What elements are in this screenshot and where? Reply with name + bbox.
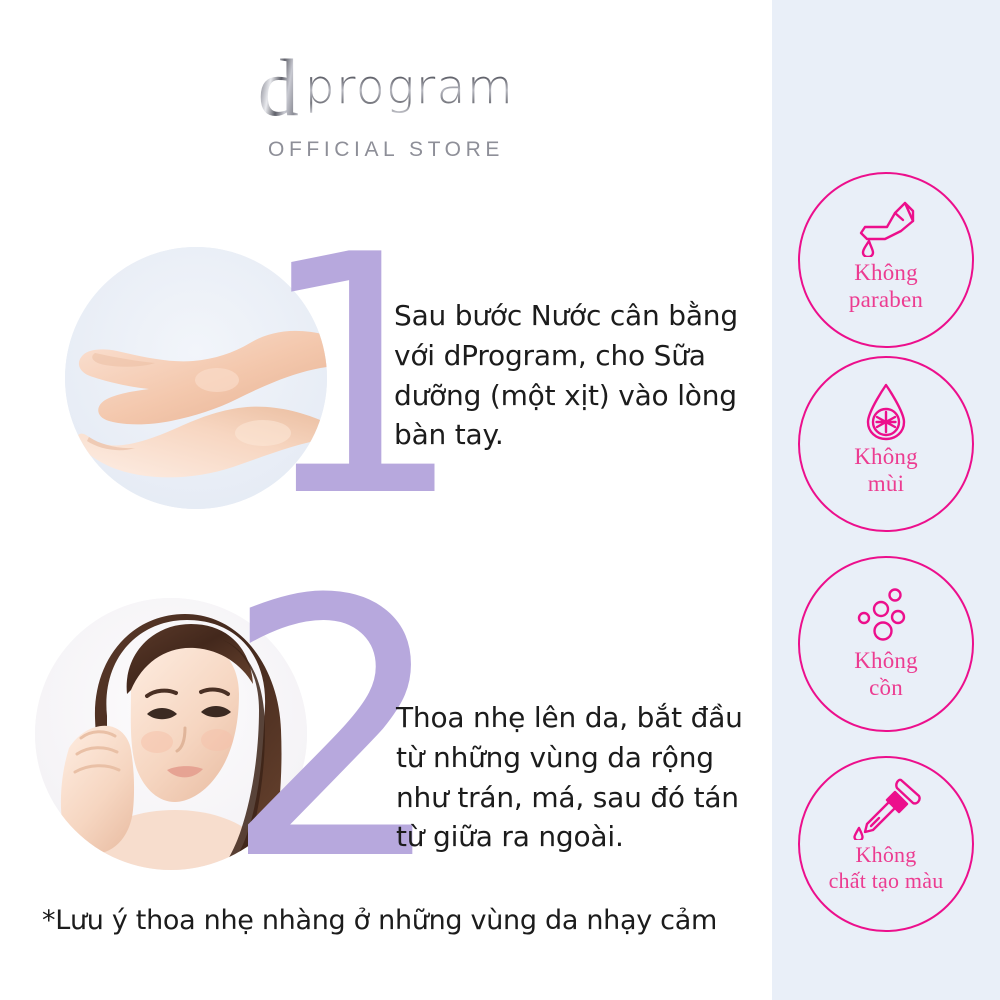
badge-khong-con[interactable]: Không cồn [798, 556, 974, 732]
badge-khong-chat-tao-mau[interactable]: Không chất tạo màu [798, 756, 974, 932]
badge-label-line1: Không [829, 842, 944, 868]
badge-label-line1: Không [854, 648, 918, 675]
dropper-pipette-icon [851, 778, 921, 840]
badge-label-line2: paraben [849, 287, 923, 314]
logo-wordmark: dprogram [258, 48, 515, 128]
badge-label: Không paraben [849, 260, 923, 313]
logo-word-program: program [305, 60, 515, 115]
step-2: 2 Thoa nhẹ lên da, bắt đầu từ những vùng… [0, 580, 772, 890]
badge-label-line1: Không [854, 444, 918, 471]
step-1-text: Sau bước Nước cân bằng với dProgram, cho… [394, 296, 754, 455]
badge-label-line2: mùi [854, 471, 918, 498]
badge-label-line2: cồn [854, 675, 918, 702]
badge-khong-paraben[interactable]: Không paraben [798, 172, 974, 348]
logo-letter-d: d [258, 42, 299, 133]
badge-label: Không chất tạo màu [829, 842, 944, 893]
claims-sidebar: Không paraben Không mùi [772, 0, 1000, 1000]
footnote-note: *Lưu ý thoa nhẹ nhàng ở những vùng da nh… [42, 905, 717, 936]
badge-label: Không mùi [854, 444, 918, 497]
badge-khong-mui[interactable]: Không mùi [798, 356, 974, 532]
step-2-text: Thoa nhẹ lên da, bắt đầu từ những vùng d… [396, 698, 756, 857]
bubbles-icon [854, 584, 918, 646]
step-1: 1 Sau bước Nước cân bằng với dProgram, c… [0, 230, 772, 530]
droplet-asterisk-icon [856, 380, 916, 442]
badge-label: Không cồn [854, 648, 918, 701]
badge-label-line2: chất tạo màu [829, 868, 944, 894]
brand-logo: dprogram OFFICIAL STORE [0, 48, 772, 162]
logo-subtitle: OFFICIAL STORE [0, 138, 772, 162]
promo-infographic: dprogram OFFICIAL STORE [0, 0, 1000, 1000]
flask-pouring-drop-icon [851, 196, 921, 258]
badge-label-line1: Không [849, 260, 923, 287]
